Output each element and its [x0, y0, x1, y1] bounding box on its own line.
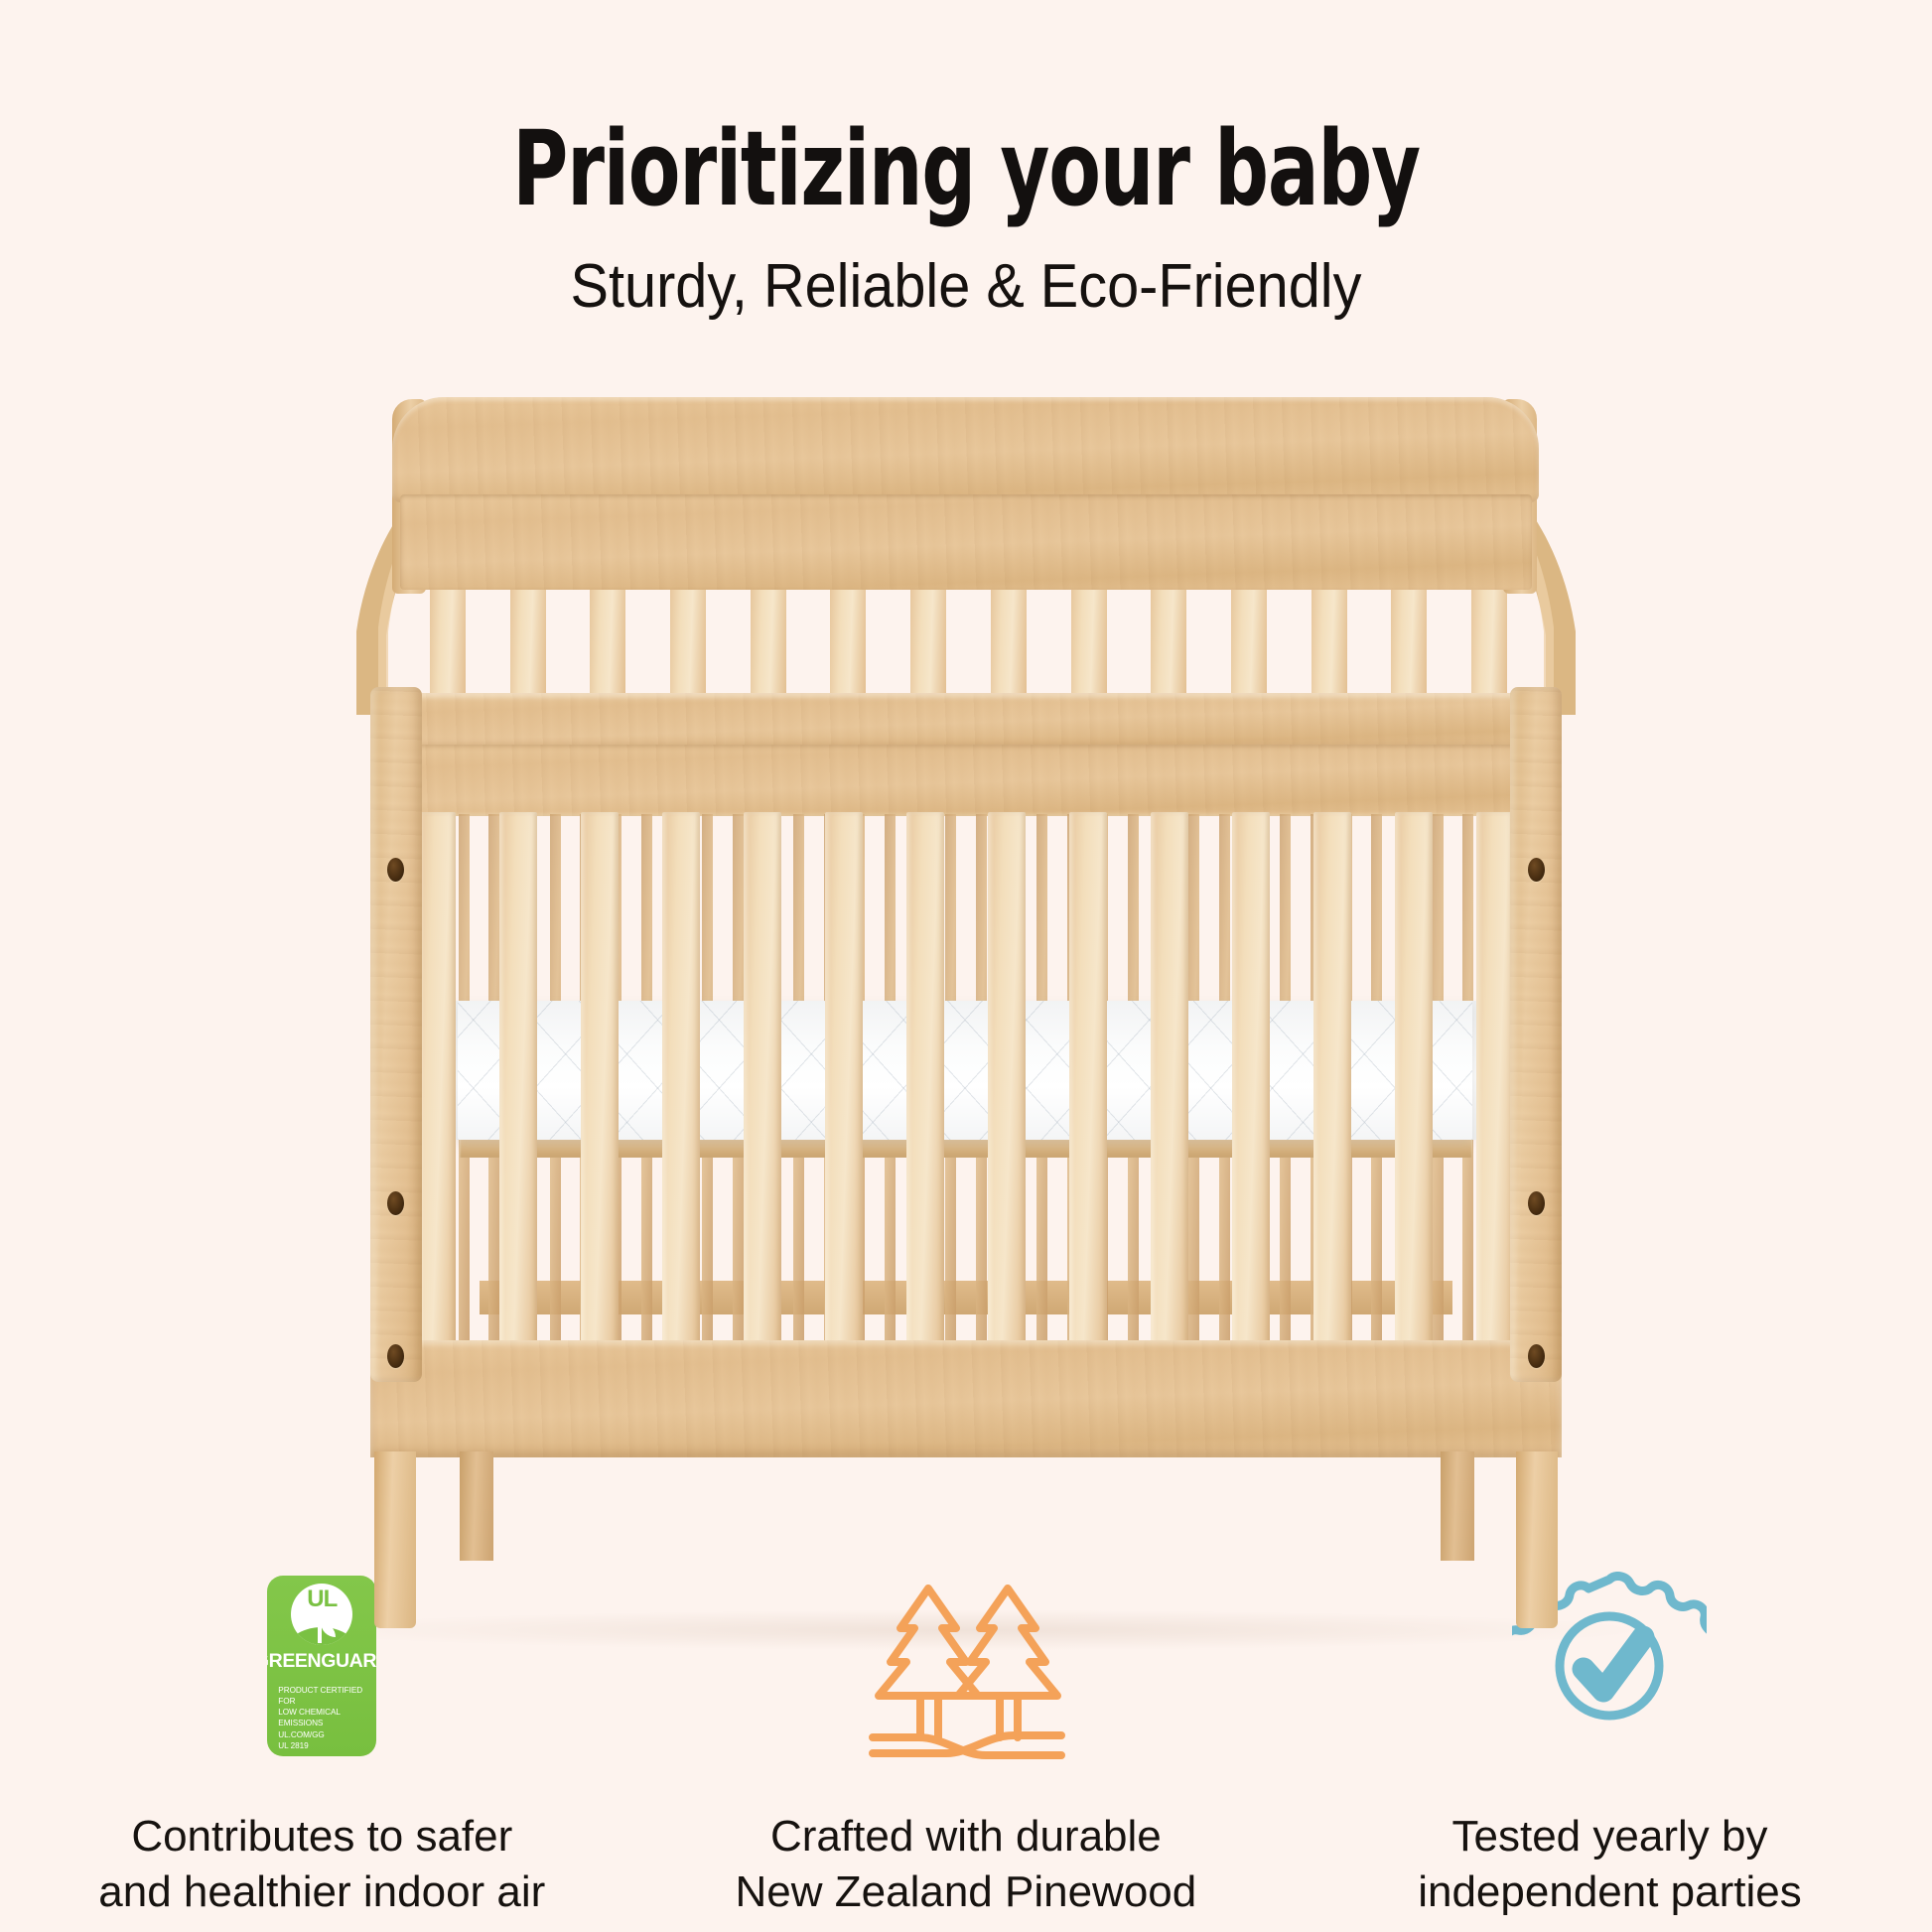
caption-greenguard: Contributes to safer and healthier indoo… [0, 1809, 644, 1921]
caption-line: New Zealand Pinewood [644, 1864, 1289, 1920]
hardware-bolt-icon [1528, 1344, 1545, 1368]
crib-upper-slats [430, 586, 1507, 697]
crib-leg-rear-right [1441, 1451, 1474, 1561]
crib-corner-post-left [370, 687, 422, 1382]
caption-line: independent parties [1288, 1864, 1932, 1920]
greenguard-gold-badge-icon: UL GREENGUARD PRODUCT CERTIFIED FOR LOW … [267, 1569, 376, 1763]
caption-pinewood: Crafted with durable New Zealand Pinewoo… [644, 1809, 1289, 1921]
crib-corner-post-right [1510, 687, 1562, 1382]
pine-trees-icon [863, 1569, 1069, 1763]
feature-greenguard: UL GREENGUARD PRODUCT CERTIFIED FOR LOW … [0, 1569, 644, 1763]
hardware-bolt-icon [1528, 1191, 1545, 1215]
crib-mid-rail-lower [370, 745, 1562, 816]
headboard-top-panel [392, 397, 1539, 502]
fine-print-line: UL 2819 [278, 1740, 365, 1751]
fine-print-line: PRODUCT CERTIFIED FOR [278, 1685, 365, 1708]
caption-tested: Tested yearly by independent parties [1288, 1809, 1932, 1921]
crib-product-illustration [370, 397, 1562, 1529]
caption-line: Contributes to safer [0, 1809, 644, 1864]
hardware-bolt-icon [387, 1344, 404, 1368]
crib-leg-rear-left [460, 1451, 493, 1561]
crib-mid-rail-upper [370, 693, 1562, 749]
fine-print-line: LOW CHEMICAL EMISSIONS [278, 1707, 365, 1729]
ul-mark-label: UL [307, 1586, 337, 1612]
greenguard-fine-print: PRODUCT CERTIFIED FOR LOW CHEMICAL EMISS… [278, 1685, 365, 1752]
promo-header: Prioritizing your baby Sturdy, Reliable … [0, 0, 1932, 318]
feature-icon-row: UL GREENGUARD PRODUCT CERTIFIED FOR LOW … [0, 1569, 1932, 1763]
hardware-bolt-icon [387, 858, 404, 882]
crib-bottom-rail [370, 1340, 1562, 1457]
page-title: Prioritizing your baby [174, 117, 1758, 220]
greenguard-brand-label: GREENGUARD [267, 1652, 376, 1672]
crib-leg-front-left [374, 1451, 416, 1628]
hardware-bolt-icon [1528, 858, 1545, 882]
caption-line: and healthier indoor air [0, 1864, 644, 1920]
leaf-icon [318, 1621, 322, 1643]
caption-line: Crafted with durable [644, 1809, 1289, 1864]
fine-print-line: UL.COM/GG [278, 1729, 365, 1740]
hardware-bolt-icon [387, 1191, 404, 1215]
headboard-lower-panel [400, 494, 1532, 590]
feature-pinewood [644, 1569, 1289, 1763]
feature-tested [1288, 1569, 1932, 1763]
page-subtitle: Sturdy, Reliable & Eco-Friendly [68, 256, 1864, 318]
feature-captions-row: Contributes to safer and healthier indoo… [0, 1809, 1932, 1921]
crib-leg-front-right [1516, 1451, 1558, 1628]
ul-mark-icon: UL [291, 1584, 352, 1645]
crib-front-slats [418, 812, 1514, 1348]
product-image-stage [0, 397, 1932, 1529]
caption-line: Tested yearly by [1288, 1809, 1932, 1864]
